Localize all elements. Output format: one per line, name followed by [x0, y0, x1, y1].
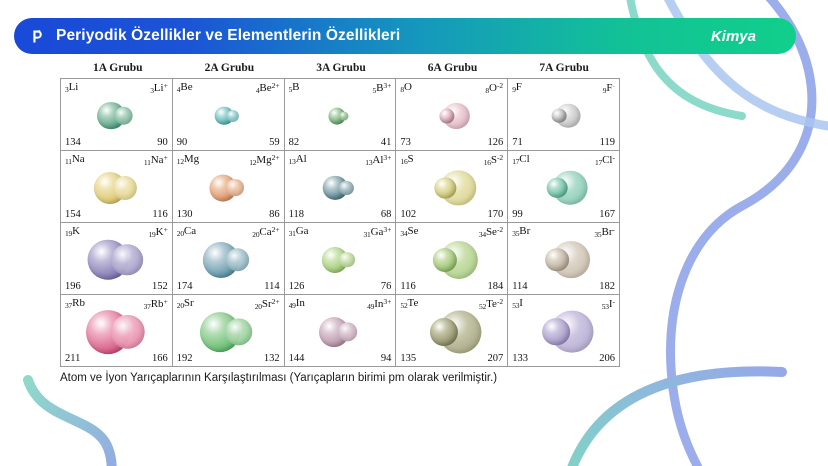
- radius-comparison-graphic: [396, 88, 507, 144]
- group-header-row: 1A Grubu2A Grubu3A Grubu6A Grubu7A Grubu: [60, 62, 620, 78]
- element-cell-B[interactable]: 5B5B3+8241: [285, 79, 397, 151]
- table-row: 3Li3Li+134904Be4Be2+90595B5B3+82418O8O-2…: [61, 79, 620, 151]
- atomic-radius-value: 211: [65, 354, 80, 365]
- ion-sphere: [225, 318, 253, 346]
- radius-comparison-graphic: [508, 232, 619, 288]
- element-cell-F[interactable]: 9F9F-71119: [508, 79, 620, 151]
- radius-comparison-graphic: [61, 160, 172, 216]
- element-cell-Ga[interactable]: 31Ga31Ga3+12676: [285, 223, 397, 295]
- radius-comparison-graphic: [61, 88, 172, 144]
- atomic-radius-value: 90: [177, 138, 188, 149]
- element-cell-K[interactable]: 19K19K+196152: [61, 223, 173, 295]
- ion-sphere: [227, 109, 239, 121]
- radius-comparison-graphic: [285, 88, 396, 144]
- atomic-radius-value: 71: [512, 138, 523, 149]
- atomic-radius-value: 99: [512, 210, 523, 221]
- element-cell-Li[interactable]: 3Li3Li+13490: [61, 79, 173, 151]
- ionic-radius-value: 207: [487, 354, 503, 365]
- radius-comparison-graphic: [173, 232, 284, 288]
- radius-comparison-graphic: [508, 88, 619, 144]
- atomic-radius-value: 126: [289, 282, 305, 293]
- ionic-radius-value: 68: [381, 210, 392, 221]
- radius-comparison-graphic: [285, 304, 396, 360]
- atomic-radius-value: 174: [177, 282, 193, 293]
- radius-comparison-graphic: [396, 304, 507, 360]
- element-cell-Be[interactable]: 4Be4Be2+9059: [173, 79, 285, 151]
- periodic-radii-figure: 1A Grubu2A Grubu3A Grubu6A Grubu7A Grubu…: [60, 62, 620, 384]
- ion-sphere: [338, 322, 358, 342]
- ionic-radius-value: 41: [381, 138, 392, 149]
- ionic-radius-value: 94: [381, 354, 392, 365]
- group-header-1: 1A Grubu: [62, 62, 174, 78]
- atomic-radius-value: 154: [65, 210, 81, 221]
- element-cell-S[interactable]: 16S16S-2102170: [396, 151, 508, 223]
- atomic-radius-value: 144: [289, 354, 305, 365]
- ion-sphere: [339, 181, 353, 195]
- group-header-4: 6A Grubu: [397, 62, 509, 78]
- element-cell-Rb[interactable]: 37Rb37Rb+211166: [61, 295, 173, 367]
- group-header-2: 2A Grubu: [174, 62, 286, 78]
- ionic-radius-value: 152: [152, 282, 168, 293]
- ionic-radius-value: 182: [599, 282, 615, 293]
- group-header-5: 7A Grubu: [508, 62, 620, 78]
- element-cell-Se[interactable]: 34Se34Se-2116184: [396, 223, 508, 295]
- ionic-radius-value: 132: [264, 354, 280, 365]
- ionic-radius-value: 166: [152, 354, 168, 365]
- atomic-radius-value: 82: [289, 138, 300, 149]
- element-cell-Cl[interactable]: 17Cl17Cl-99167: [508, 151, 620, 223]
- ionic-radius-value: 167: [599, 210, 615, 221]
- subject-label: Kimya: [711, 28, 756, 45]
- radius-comparison-graphic: [396, 160, 507, 216]
- atomic-radius-value: 116: [400, 282, 415, 293]
- radius-comparison-graphic: [173, 88, 284, 144]
- ion-sphere: [226, 179, 244, 197]
- atomic-radius-value: 133: [512, 354, 528, 365]
- atomic-radius-value: 118: [289, 210, 304, 221]
- ionic-radius-value: 86: [269, 210, 280, 221]
- ionic-radius-value: 170: [487, 210, 503, 221]
- atomic-radius-value: 196: [65, 282, 81, 293]
- atomic-radius-value: 135: [400, 354, 416, 365]
- atomic-radius-value: 73: [400, 138, 411, 149]
- ionic-radius-value: 90: [157, 138, 168, 149]
- radius-comparison-graphic: [285, 160, 396, 216]
- element-cell-O[interactable]: 8O8O-273126: [396, 79, 508, 151]
- p-logo-icon: [26, 26, 47, 47]
- ion-sphere: [111, 244, 143, 276]
- radius-comparison-graphic: [61, 232, 172, 288]
- table-row: 11Na11Na+15411612Mg12Mg2+1308613Al13Al3+…: [61, 151, 620, 223]
- ionic-radius-value: 76: [381, 282, 392, 293]
- ionic-radius-value: 114: [264, 282, 279, 293]
- atom-sphere: [545, 248, 569, 272]
- slide-header-bar: Periyodik Özellikler ve Elementlerin Öze…: [14, 18, 796, 54]
- radii-grid: 3Li3Li+134904Be4Be2+90595B5B3+82418O8O-2…: [60, 78, 620, 367]
- slide-canvas: Periyodik Özellikler ve Elementlerin Öze…: [0, 0, 828, 466]
- ion-sphere: [113, 176, 137, 200]
- element-cell-In[interactable]: 49In49In3+14494: [285, 295, 397, 367]
- atom-sphere: [547, 177, 568, 198]
- atomic-radius-value: 102: [400, 210, 416, 221]
- ion-sphere: [339, 252, 355, 268]
- radius-comparison-graphic: [173, 304, 284, 360]
- radius-comparison-graphic: [508, 304, 619, 360]
- radius-comparison-graphic: [396, 232, 507, 288]
- element-cell-Mg[interactable]: 12Mg12Mg2+13086: [173, 151, 285, 223]
- atom-sphere: [542, 318, 570, 346]
- ion-sphere: [114, 106, 133, 125]
- atomic-radius-value: 114: [512, 282, 527, 293]
- figure-caption: Atom ve İyon Yarıçaplarının Karşılaştırı…: [60, 372, 620, 384]
- ionic-radius-value: 184: [487, 282, 503, 293]
- ionic-radius-value: 116: [152, 210, 167, 221]
- radius-comparison-graphic: [173, 160, 284, 216]
- ionic-radius-value: 206: [599, 354, 615, 365]
- radius-comparison-graphic: [508, 160, 619, 216]
- element-cell-Al[interactable]: 13Al13Al3+11868: [285, 151, 397, 223]
- element-cell-Ca[interactable]: 20Ca20Ca2+174114: [173, 223, 285, 295]
- element-cell-I[interactable]: 53I53I-133206: [508, 295, 620, 367]
- element-cell-Na[interactable]: 11Na11Na+154116: [61, 151, 173, 223]
- group-header-3: 3A Grubu: [285, 62, 397, 78]
- atomic-radius-value: 130: [177, 210, 193, 221]
- ion-sphere: [111, 314, 146, 349]
- atomic-radius-value: 192: [177, 354, 193, 365]
- ion-sphere: [226, 248, 250, 272]
- element-cell-Sr[interactable]: 20Sr20Sr2+192132: [173, 295, 285, 367]
- ionic-radius-value: 119: [600, 138, 615, 149]
- radius-comparison-graphic: [285, 232, 396, 288]
- table-row: 19K19K+19615220Ca20Ca2+17411431Ga31Ga3+1…: [61, 223, 620, 295]
- atom-sphere: [552, 108, 567, 123]
- ionic-radius-value: 59: [269, 138, 280, 149]
- page-title: Periyodik Özellikler ve Elementlerin Öze…: [56, 27, 400, 45]
- ionic-radius-value: 126: [487, 138, 503, 149]
- table-row: 37Rb37Rb+21116620Sr20Sr2+19213249In49In3…: [61, 295, 620, 367]
- radius-comparison-graphic: [61, 304, 172, 360]
- element-cell-Br[interactable]: 35Br35Br-114182: [508, 223, 620, 295]
- atomic-radius-value: 134: [65, 138, 81, 149]
- element-cell-Te[interactable]: 52Te52Te-2135207: [396, 295, 508, 367]
- ion-sphere: [340, 111, 349, 120]
